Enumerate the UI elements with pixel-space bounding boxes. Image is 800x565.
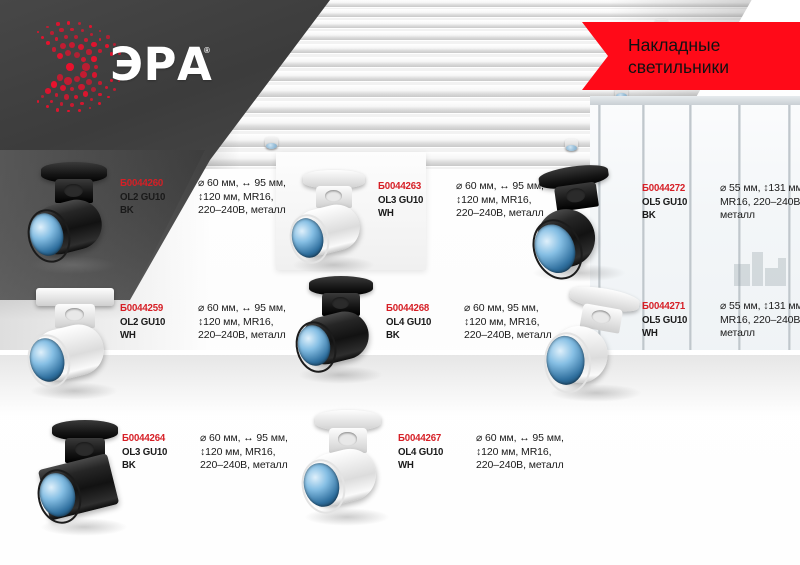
product-article-code: Б0044259 bbox=[120, 302, 183, 316]
yoke-cutout bbox=[75, 442, 94, 455]
product-label: Б0044260OL2 GU10BK⌀ 60 мм, ↔ 95 мм,↕120 … bbox=[120, 177, 286, 218]
luminaire-ol5-bk bbox=[528, 166, 632, 278]
product-spec-line: MR16, 220–240В, bbox=[720, 314, 800, 328]
product-spec-line: 220–240В, металл bbox=[200, 459, 288, 473]
product-spec-line: ⌀ 60 мм, ↔ 95 мм, bbox=[198, 177, 286, 191]
product-spec-line: ⌀ 60 мм, ↔ 95 мм, bbox=[200, 432, 288, 446]
product-article-code: Б0044268 bbox=[386, 302, 449, 316]
product-spec-line: ↕120 мм, MR16, bbox=[198, 316, 286, 330]
product-article-code: Б0044263 bbox=[378, 180, 441, 194]
product-specifications: ⌀ 60 мм, ↔ 95 мм,↕120 мм, MR16,220–240В,… bbox=[198, 302, 286, 343]
product-identity: Б0044263OL3 GU10WH bbox=[378, 180, 446, 221]
product-spec-line: 220–240В, металл bbox=[464, 329, 552, 343]
product-article-code: Б0044264 bbox=[122, 432, 185, 446]
registered-mark: ® bbox=[204, 46, 210, 55]
product-specifications: ⌀ 60 мм, ↔ 95 мм,↕120 мм, MR16,220–240В,… bbox=[198, 177, 286, 218]
product-label: Б0044271OL5 GU10WH⌀ 55 мм, ↕131 мм,MR16,… bbox=[642, 300, 800, 341]
product-model: OL4 GU10 bbox=[386, 316, 449, 330]
product-identity: Б0044268OL4 GU10BK bbox=[386, 302, 454, 343]
product-spec-line: ⌀ 60 мм, ↔ 95 мм, bbox=[198, 302, 286, 316]
yoke-cutout bbox=[325, 190, 342, 202]
product-spec-line: ⌀ 55 мм, ↕131 мм, bbox=[720, 300, 800, 314]
city-skyline bbox=[734, 232, 786, 286]
product-label: Б0044259OL2 GU10WH⌀ 60 мм, ↔ 95 мм,↕120 … bbox=[120, 302, 286, 343]
product-article-code: Б0044271 bbox=[642, 300, 705, 314]
skyline-building bbox=[778, 258, 786, 286]
product-spec-line: ↕120 мм, MR16, bbox=[464, 316, 552, 330]
luminaire-ol3-bk bbox=[36, 420, 134, 532]
product-model: OL3 GU10 bbox=[378, 194, 441, 208]
product-specifications: ⌀ 60 мм, 95 мм,↕120 мм, MR16,220–240В, м… bbox=[464, 302, 552, 343]
product-article-code: Б0044272 bbox=[642, 182, 705, 196]
product-spec-line: ⌀ 60 мм, ↔ 95 мм, bbox=[476, 432, 564, 446]
product-spec-line: MR16, 220–240В, bbox=[720, 196, 800, 210]
luminaire-ol4-wh bbox=[300, 410, 396, 522]
window-top-rail bbox=[590, 96, 800, 105]
product-identity: Б0044271OL5 GU10WH bbox=[642, 300, 710, 341]
era-logo: ЭРА ® bbox=[18, 28, 218, 106]
product-article-code: Б0044267 bbox=[398, 432, 461, 446]
product-model: OL5 GU10 bbox=[642, 314, 705, 328]
skyline-building bbox=[752, 252, 763, 286]
catalog-page: ЭРА ® Накладные светильники Б0044260OL2 … bbox=[0, 0, 800, 565]
product-spec-line: ⌀ 55 мм, ↕131 мм, bbox=[720, 182, 800, 196]
luminaire-ol2-wh bbox=[26, 286, 124, 396]
product-spec-line: 220–240В, металл bbox=[198, 204, 286, 218]
luminaire-ol2-bk bbox=[26, 162, 122, 270]
product-model: OL3 GU10 bbox=[122, 446, 185, 460]
banner-line-1: Накладные bbox=[628, 34, 729, 56]
product-spec-line: 220–240В, металл bbox=[476, 459, 564, 473]
product-label: Б0044272OL5 GU10BK⌀ 55 мм, ↕131 мм,MR16,… bbox=[642, 182, 800, 223]
product-identity: Б0044259OL2 GU10WH bbox=[120, 302, 188, 343]
product-model: OL2 GU10 bbox=[120, 191, 183, 205]
product-identity: Б0044267OL4 GU10WH bbox=[398, 432, 466, 473]
category-banner: Накладные светильники bbox=[582, 22, 800, 90]
product-specifications: ⌀ 60 мм, ↔ 95 мм,↕120 мм, MR16,220–240В,… bbox=[476, 432, 564, 473]
logo-wordmark: ЭРА bbox=[110, 42, 212, 87]
product-color-code: WH bbox=[642, 327, 705, 341]
product-spec-line: металл bbox=[720, 327, 800, 341]
product-label: Б0044268OL4 GU10BK⌀ 60 мм, 95 мм,↕120 мм… bbox=[386, 302, 552, 343]
product-spec-line: ⌀ 60 мм, 95 мм, bbox=[464, 302, 552, 316]
product-spec-line: металл bbox=[720, 209, 800, 223]
product-article-code: Б0044260 bbox=[120, 177, 183, 191]
product-label: Б0044264OL3 GU10BK⌀ 60 мм, ↔ 95 мм,↕120 … bbox=[122, 432, 288, 473]
product-label: Б0044263OL3 GU10WH⌀ 60 мм, ↔ 95 мм,↕120 … bbox=[378, 180, 544, 221]
product-color-code: BK bbox=[386, 329, 449, 343]
yoke-cutout bbox=[64, 184, 82, 197]
product-model: OL4 GU10 bbox=[398, 446, 461, 460]
product-color-code: WH bbox=[398, 459, 461, 473]
skyline-building bbox=[734, 264, 750, 286]
luminaire-ol5-wh bbox=[546, 288, 648, 398]
banner-line-2: светильники bbox=[628, 56, 729, 78]
luminaire-ol3-wh bbox=[288, 170, 380, 270]
product-label: Б0044267OL4 GU10WH⌀ 60 мм, ↔ 95 мм,↕120 … bbox=[398, 432, 564, 473]
product-model: OL2 GU10 bbox=[120, 316, 183, 330]
luminaire-ceiling-base bbox=[36, 288, 114, 306]
product-spec-line: 220–240В, металл bbox=[198, 329, 286, 343]
product-model: OL5 GU10 bbox=[642, 196, 705, 210]
product-color-code: WH bbox=[378, 207, 441, 221]
product-identity: Б0044272OL5 GU10BK bbox=[642, 182, 710, 223]
product-spec-line: ↕120 мм, MR16, bbox=[476, 446, 564, 460]
product-color-code: BK bbox=[642, 209, 705, 223]
product-specifications: ⌀ 60 мм, ↔ 95 мм,↕120 мм, MR16,220–240В,… bbox=[200, 432, 288, 473]
product-color-code: BK bbox=[120, 204, 183, 218]
product-color-code: WH bbox=[120, 329, 183, 343]
yoke-cutout bbox=[65, 308, 84, 321]
product-specifications: ⌀ 55 мм, ↕131 мм,MR16, 220–240В,металл bbox=[720, 182, 800, 223]
product-identity: Б0044260OL2 GU10BK bbox=[120, 177, 188, 218]
product-specifications: ⌀ 55 мм, ↕131 мм,MR16, 220–240В,металл bbox=[720, 300, 800, 341]
luminaire-ol4-bk bbox=[294, 276, 388, 380]
yoke-cutout bbox=[338, 432, 356, 445]
product-spec-line: ↕120 мм, MR16, bbox=[198, 191, 286, 205]
product-color-code: BK bbox=[122, 459, 185, 473]
product-identity: Б0044264OL3 GU10BK bbox=[122, 432, 190, 473]
product-spec-line: ↕120 мм, MR16, bbox=[200, 446, 288, 460]
